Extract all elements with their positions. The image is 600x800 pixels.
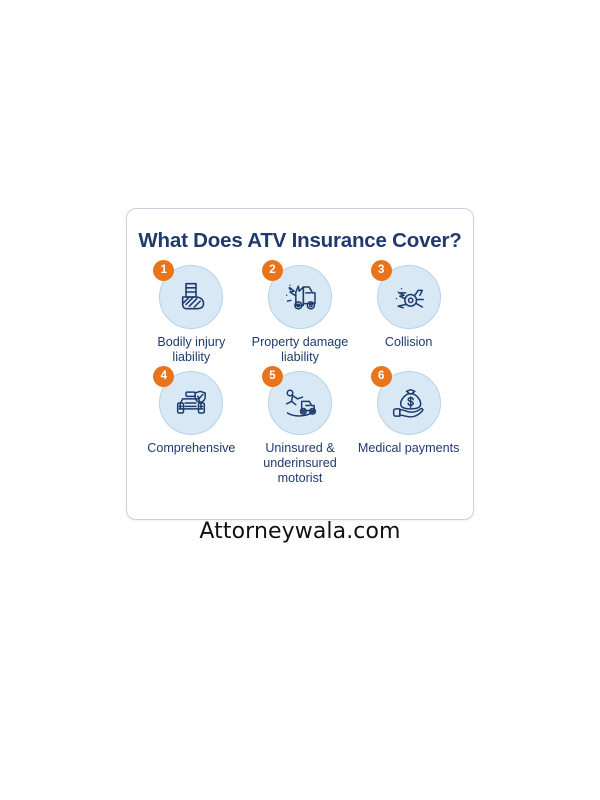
icon-wrapper: 1 bbox=[159, 265, 223, 329]
icon-wrapper: 5 bbox=[268, 371, 332, 435]
icon-wrapper: 2 bbox=[268, 265, 332, 329]
coverage-label: Comprehensive bbox=[147, 441, 235, 456]
icon-wrapper: 6 bbox=[377, 371, 441, 435]
step-badge-3: 3 bbox=[371, 260, 392, 281]
coverage-label: Medical payments bbox=[358, 441, 460, 456]
step-badge-6: 6 bbox=[371, 366, 392, 387]
icon-wrapper: 4 bbox=[159, 371, 223, 435]
atv-insurance-infographic-card: What Does ATV Insurance Cover? 1 bbox=[126, 208, 474, 520]
coverage-item-bodily-injury-liability[interactable]: 1 Bodily injury liability bbox=[137, 265, 246, 365]
coverage-label: Property damage liability bbox=[246, 335, 354, 365]
coverage-item-medical-payments[interactable]: 6 Medical payments bbox=[354, 371, 463, 486]
coverage-item-comprehensive[interactable]: 4 Comprehensive bbox=[137, 371, 246, 486]
coverage-item-collision[interactable]: 3 Collision bbox=[354, 265, 463, 365]
step-badge-2: 2 bbox=[262, 260, 283, 281]
coverage-label: Uninsured & underinsured motorist bbox=[246, 441, 354, 486]
step-badge-5: 5 bbox=[262, 366, 283, 387]
page-title: What Does ATV Insurance Cover? bbox=[127, 229, 473, 253]
icon-wrapper: 3 bbox=[377, 265, 441, 329]
coverage-grid: 1 Bodily injury liability bbox=[127, 265, 473, 486]
coverage-label: Bodily injury liability bbox=[137, 335, 245, 365]
coverage-item-property-damage-liability[interactable]: 2 bbox=[246, 265, 355, 365]
coverage-label: Collision bbox=[385, 335, 433, 350]
coverage-item-uninsured-underinsured-motorist[interactable]: 5 bbox=[246, 371, 355, 486]
watermark-text: Attorneywala.com bbox=[0, 519, 600, 544]
